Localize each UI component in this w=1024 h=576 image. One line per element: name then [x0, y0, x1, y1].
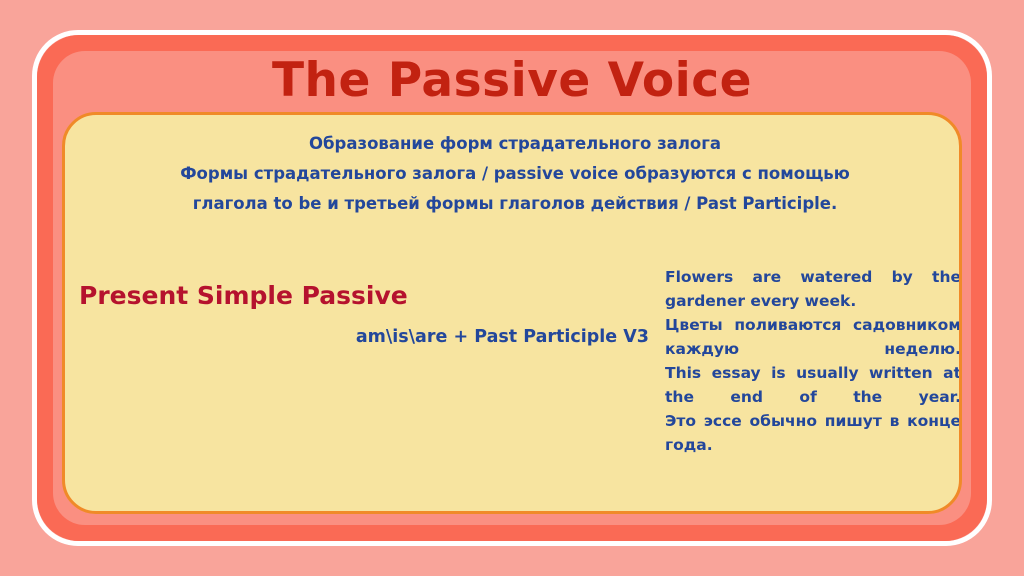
- example-2-english: This essay is usually written at the end…: [665, 361, 961, 409]
- slide: The Passive Voice Образование форм страд…: [0, 0, 1024, 576]
- example-1-russian: Цветы поливаются садовником каждую недел…: [665, 313, 961, 361]
- intro-line-3: глагола to be и третьей формы глаголов д…: [65, 189, 962, 219]
- intro-block: Образование форм страдательного залога Ф…: [65, 129, 962, 219]
- example-1-english: Flowers are watered by the gardener ever…: [665, 265, 961, 313]
- example-2-russian: Это эссе обычно пишут в конце года.: [665, 409, 961, 457]
- rule-formula: am\is\are + Past Participle V3: [79, 327, 649, 347]
- intro-line-1: Образование форм страдательного залога: [65, 129, 962, 159]
- examples-block: Flowers are watered by the gardener ever…: [665, 265, 961, 457]
- slide-title: The Passive Voice: [53, 52, 971, 110]
- content-card: Образование форм страдательного залога Ф…: [62, 112, 962, 514]
- rule-heading: Present Simple Passive: [79, 281, 639, 310]
- intro-line-2: Формы страдательного залога / passive vo…: [65, 159, 962, 189]
